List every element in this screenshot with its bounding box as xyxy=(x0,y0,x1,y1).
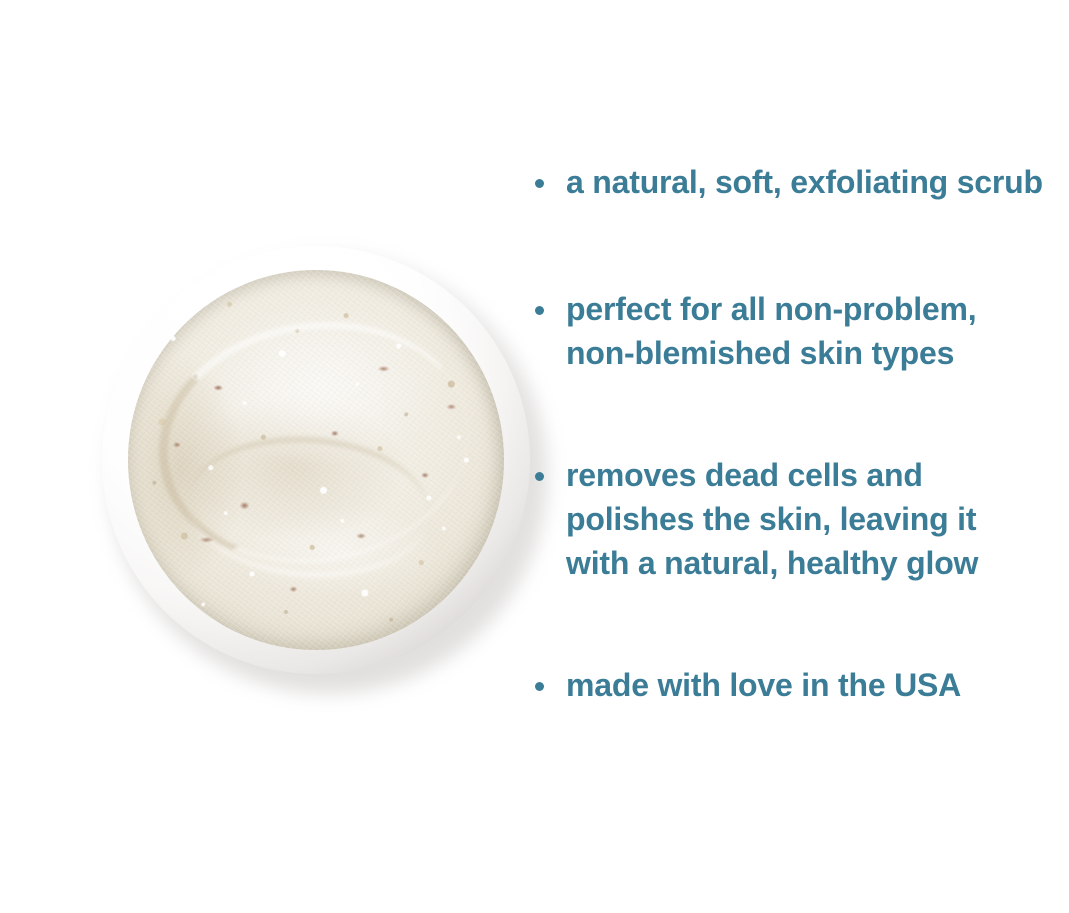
product-image xyxy=(80,224,552,696)
benefit-item-3: removes dead cells and polishes the skin… xyxy=(528,453,1048,585)
benefit-item-1: a natural, soft, exfoliating scrub xyxy=(528,160,1048,204)
bullet-dot-icon xyxy=(535,682,544,691)
bullet-dot-icon xyxy=(535,472,544,481)
product-feature-graphic: a natural, soft, exfoliating scrub perfe… xyxy=(0,0,1069,913)
benefits-list: a natural, soft, exfoliating scrub perfe… xyxy=(528,160,1048,707)
bullet-dot-icon xyxy=(535,306,544,315)
benefit-text-2: perfect for all non-problem, non-blemish… xyxy=(566,287,1048,375)
benefit-text-1: a natural, soft, exfoliating scrub xyxy=(566,160,1048,204)
scrub-contents xyxy=(128,270,504,650)
benefit-item-4: made with love in the USA xyxy=(528,663,1048,707)
benefit-item-2: perfect for all non-problem, non-blemish… xyxy=(528,287,1048,375)
bullet-dot-icon xyxy=(535,179,544,188)
benefit-text-3: removes dead cells and polishes the skin… xyxy=(566,453,1048,585)
benefit-text-4: made with love in the USA xyxy=(566,663,1048,707)
